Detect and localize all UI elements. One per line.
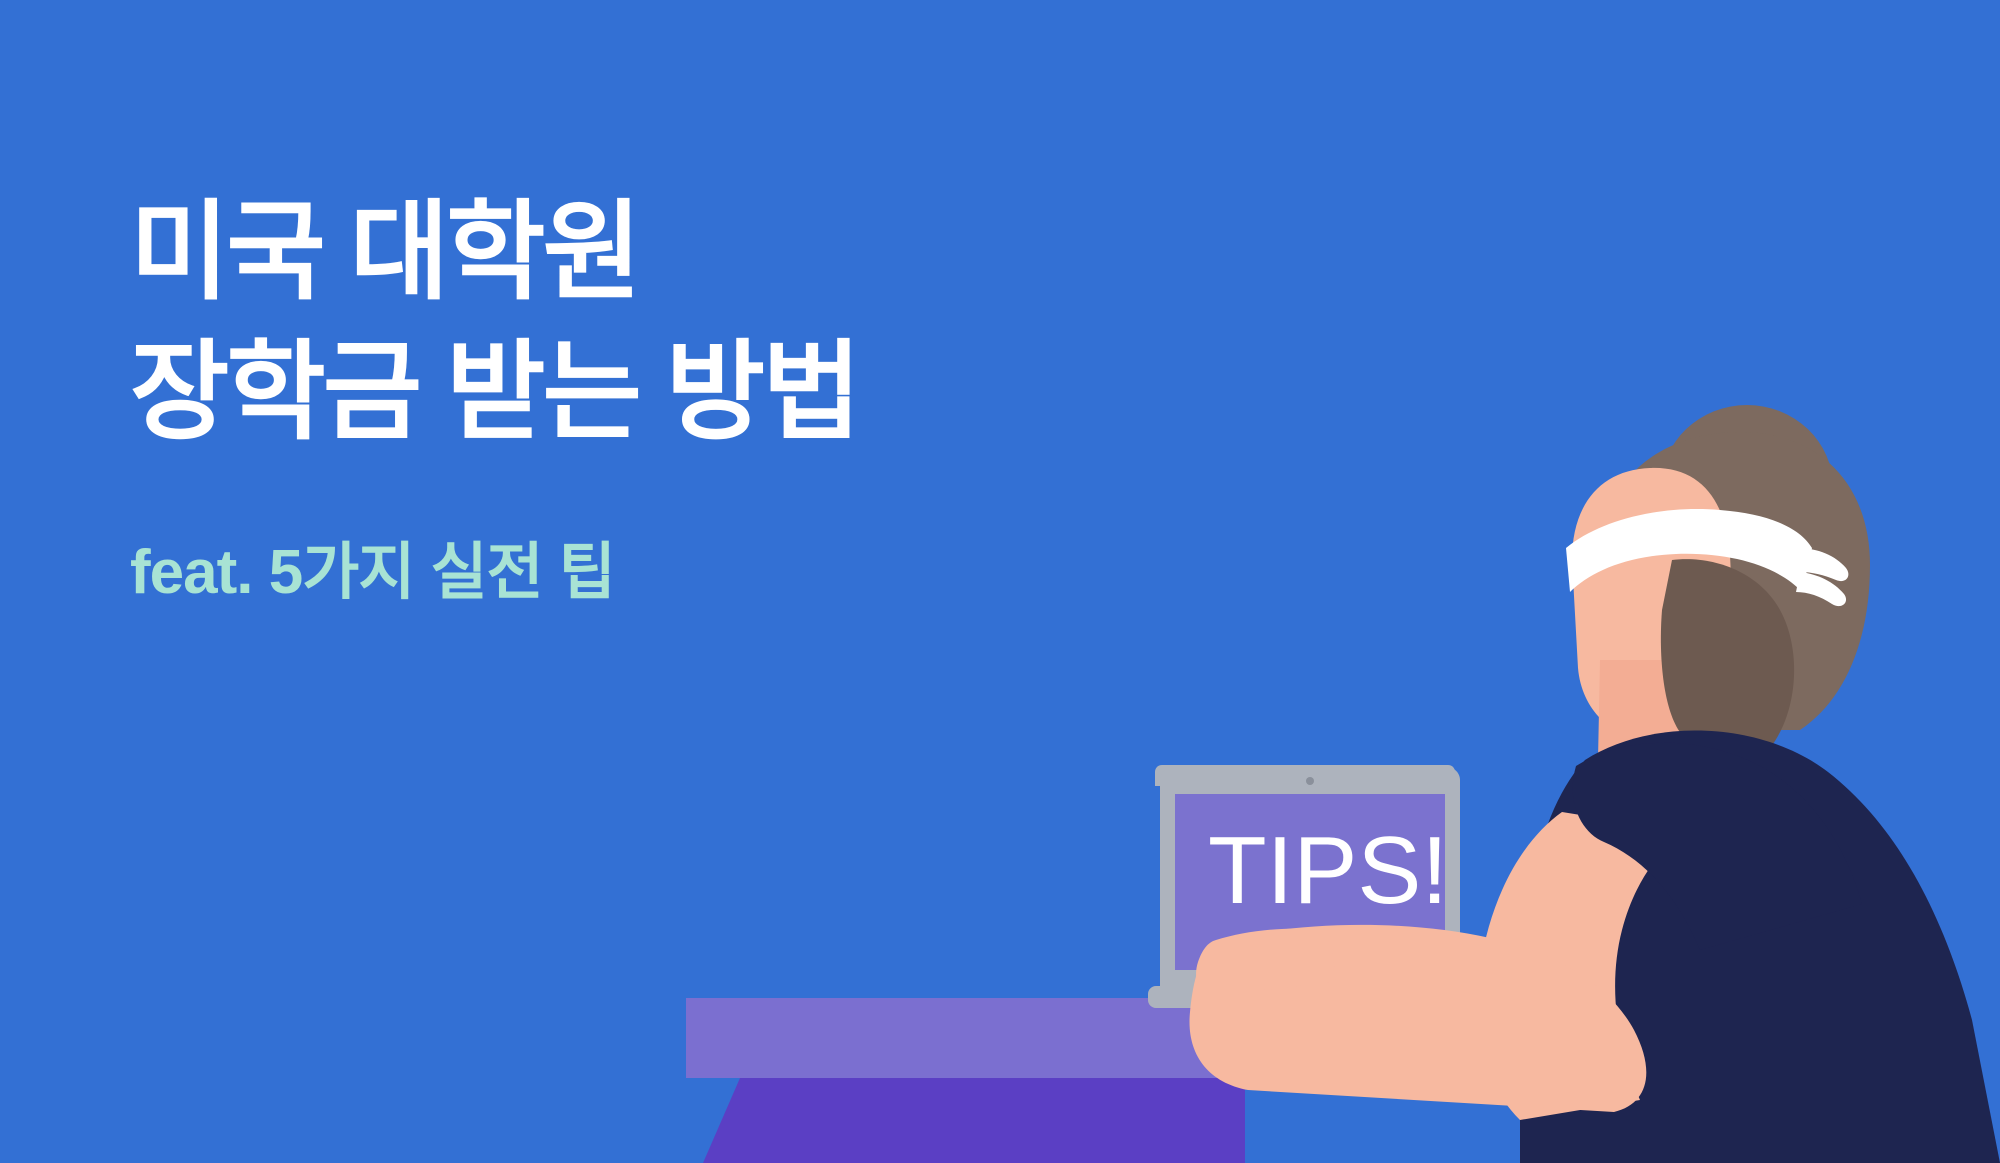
laptop-lid: [1160, 767, 1460, 995]
forearm: [1189, 925, 1646, 1112]
subtitle: feat. 5가지 실전 팁: [130, 521, 859, 611]
person-group: [1189, 405, 2000, 1163]
headline-line-1: 미국 대학원: [130, 185, 859, 319]
desk-top: [686, 998, 1546, 1078]
shirt-torso: [1520, 731, 2000, 1163]
hand: [1196, 928, 1336, 998]
laptop-base: [1148, 986, 1466, 1008]
poster-canvas: TIPS!: [0, 0, 2000, 1163]
laptop-group: TIPS!: [1148, 765, 1466, 1008]
laptop-screen-text: TIPS!: [1208, 817, 1448, 924]
headband-knot: [1798, 548, 1848, 581]
desk-shadow: [705, 1085, 1245, 1163]
headband: [1566, 509, 1812, 592]
headline-line-2: 장학금 받는 방법: [130, 325, 859, 459]
neck: [1598, 660, 1716, 808]
face-skin: [1572, 468, 1735, 742]
shirt-sleeve: [1573, 743, 1862, 950]
arm-upper: [1477, 812, 1686, 1120]
hair-nape: [1661, 559, 1794, 748]
desk-leg: [703, 1078, 1245, 1163]
text-block: 미국 대학원 장학금 받는 방법 feat. 5가지 실전 팁: [130, 185, 859, 611]
head: [1600, 432, 1870, 730]
headband-tail: [1796, 572, 1846, 606]
desk-front: [686, 1010, 1546, 1070]
hair-bun: [1661, 405, 1833, 569]
shirt-shoulder: [1574, 743, 1690, 862]
desk-group: [686, 998, 1546, 1163]
laptop-shell: [1155, 765, 1455, 786]
laptop-camera-icon: [1306, 777, 1314, 785]
laptop-screen: [1175, 794, 1445, 970]
